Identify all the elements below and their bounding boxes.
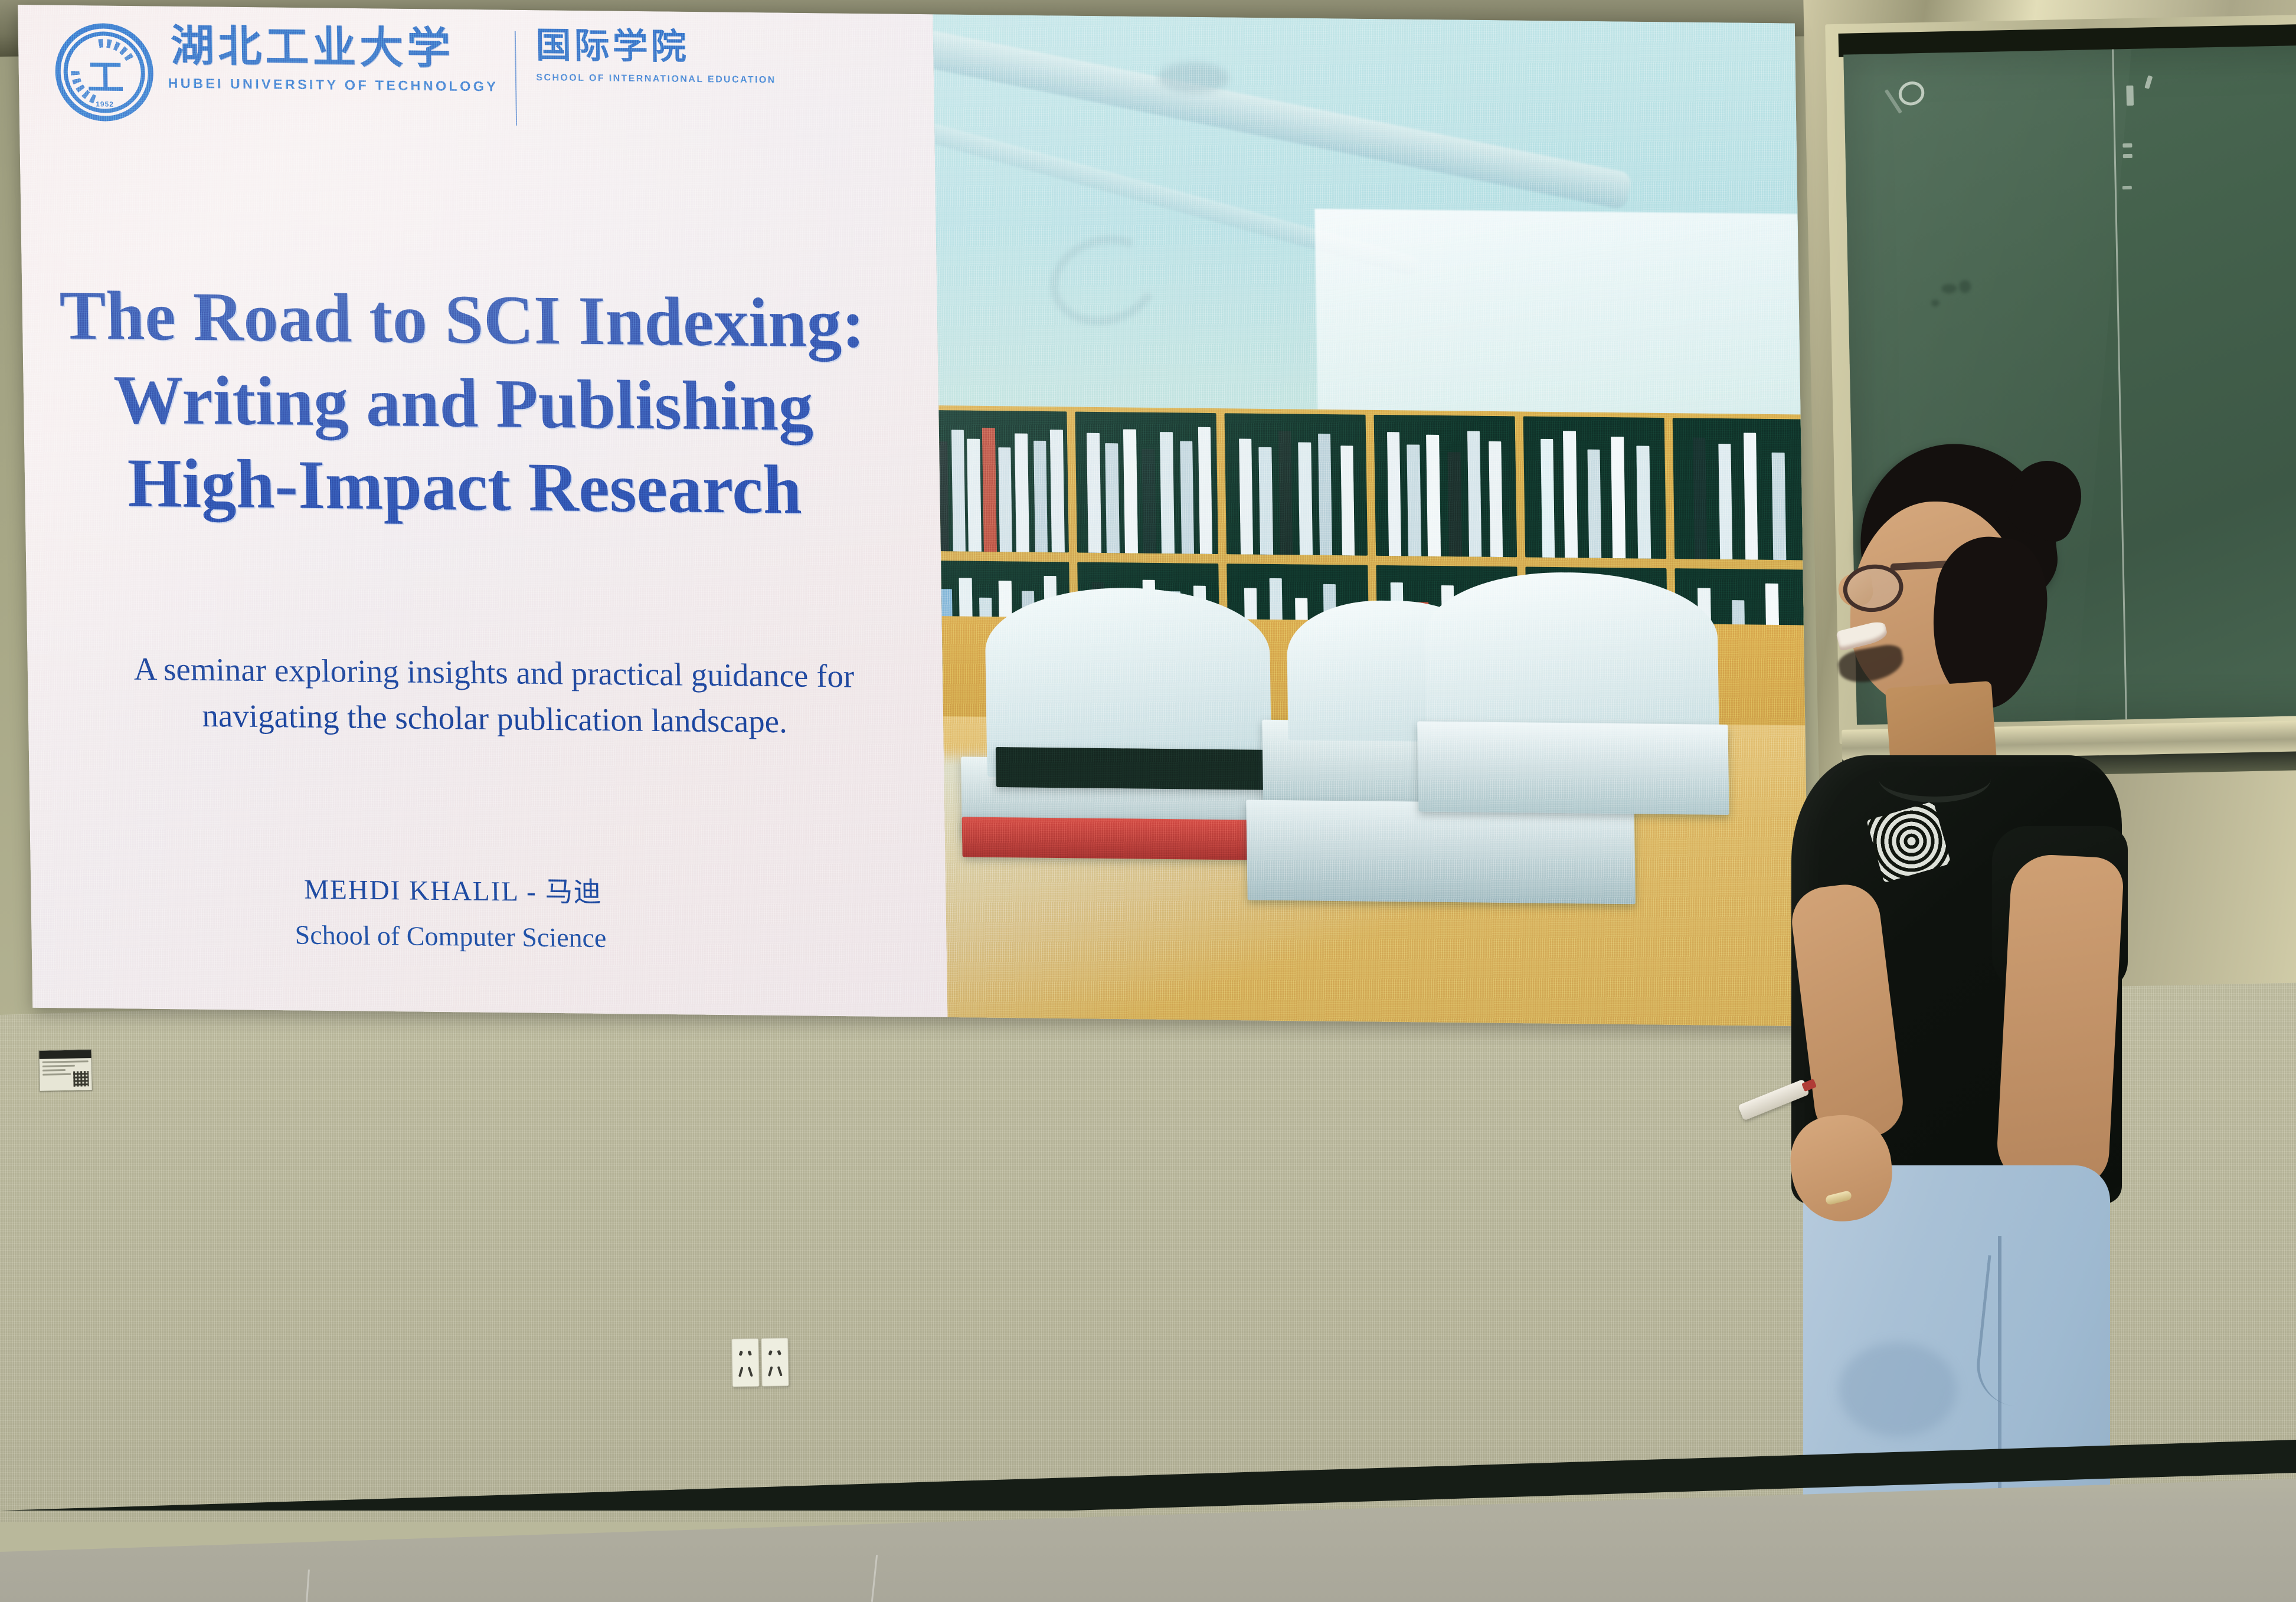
tshirt-collar (1879, 755, 1991, 802)
chalk-mark (2122, 143, 2132, 148)
outlet-prong-slots (739, 1366, 752, 1377)
equipment-asset-sticker (38, 1049, 92, 1092)
chalk-mark (2144, 76, 2153, 89)
university-name-cn: 湖北工业大学 (171, 24, 495, 71)
book-stack (1246, 800, 1636, 904)
school-name-cn: 国际学院 (535, 28, 776, 65)
slide-title-line-2: Writing and Publishing (23, 357, 904, 450)
jeans-fold (1839, 1342, 1957, 1437)
floor-tile-seam (871, 1555, 878, 1602)
open-book-left-cover (995, 747, 1271, 790)
slide-affiliation: School of Computer Science (31, 916, 870, 956)
outlet-ground-slots (740, 1351, 751, 1355)
slide-title-line-1: The Road to SCI Indexing: (22, 273, 902, 366)
presenter (1756, 448, 2122, 1602)
university-name-en: HUBEI UNIVERSITY OF TECHNOLOGY (168, 76, 498, 95)
school-name-en: SCHOOL OF INTERNATIONAL EDUCATION (536, 73, 776, 86)
seal-glyph: 工 (87, 47, 122, 101)
logo-divider (514, 31, 516, 126)
sticker-qr-code-icon (73, 1071, 89, 1087)
bookshelf-cell (1224, 413, 1368, 555)
slide-author-latin: MEHDI KHALIL - (304, 874, 545, 908)
slide-library-photo (933, 14, 1810, 1026)
lecture-room-photo: 工 1952 湖北工业大学 HUBEI UNIVERSITY OF TECHNO… (0, 0, 2296, 1602)
floor-tile-seam (306, 1570, 310, 1602)
power-outlet[interactable] (761, 1338, 789, 1387)
chalk-mark (2126, 86, 2134, 106)
bookshelf-cell (938, 410, 1069, 552)
power-outlet[interactable] (731, 1338, 759, 1387)
presenter-right-arm (1995, 853, 2124, 1188)
projection-screen: 工 1952 湖北工业大学 HUBEI UNIVERSITY OF TECHNO… (18, 5, 1810, 1026)
chalk-mark (2123, 154, 2133, 158)
wall-outlet-group[interactable] (731, 1338, 789, 1387)
university-logo-lockup: 工 1952 湖北工业大学 HUBEI UNIVERSITY OF TECHNO… (54, 23, 776, 129)
outlet-ground-slots (769, 1350, 781, 1354)
chalk-mark (2122, 186, 2132, 189)
bookshelf-cell (1523, 417, 1667, 559)
book-stack (1417, 722, 1729, 815)
university-seal-icon: 工 1952 (54, 23, 154, 122)
slide-title-line-3: High-Impact Research (24, 440, 905, 533)
bookshelf-row (938, 405, 1805, 565)
bookshelf-cell (1075, 412, 1218, 554)
school-name-block: 国际学院 SCHOOL OF INTERNATIONAL EDUCATION (535, 28, 776, 86)
seal-year: 1952 (96, 100, 114, 108)
slide-title: The Road to SCI Indexing: Writing and Pu… (22, 273, 905, 533)
bookshelf-cell (1374, 415, 1517, 557)
jeans-pocket (1973, 1255, 2085, 1412)
outlet-prong-slots (768, 1365, 781, 1376)
slide-author: MEHDI KHALIL - 马迪 (31, 863, 875, 913)
slide-author-chinese: 马迪 (545, 876, 602, 909)
slide-text-panel: 工 1952 湖北工业大学 HUBEI UNIVERSITY OF TECHNO… (18, 5, 948, 1017)
slide-subtitle: A seminar exploring insights and practic… (127, 646, 861, 746)
university-name-block: 湖北工业大学 HUBEI UNIVERSITY OF TECHNOLOGY (171, 24, 495, 95)
